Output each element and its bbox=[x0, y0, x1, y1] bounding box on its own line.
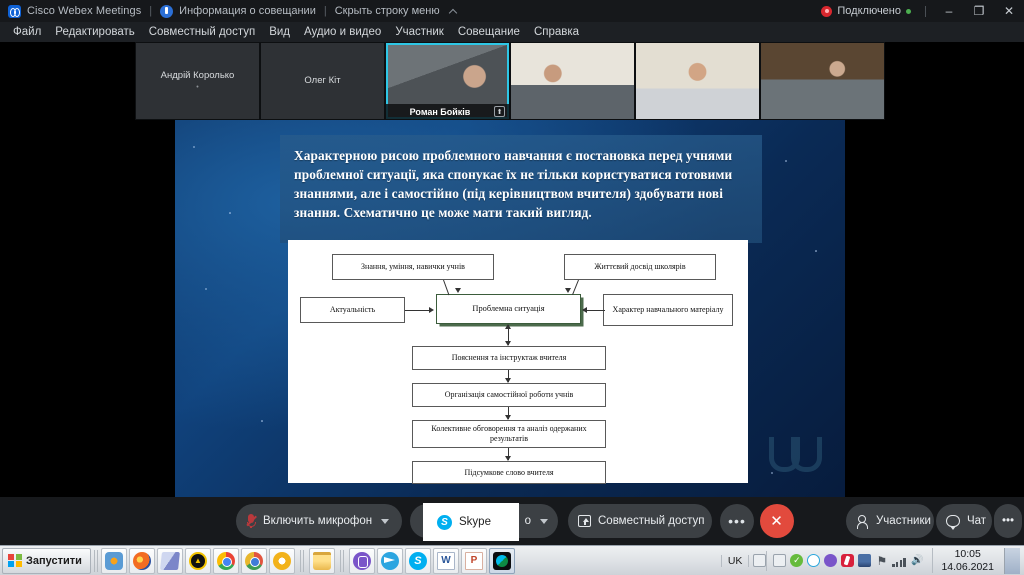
tray-icon-viber[interactable] bbox=[824, 554, 837, 567]
video-tile-3-label-bar: Роман Бойків ⬆ bbox=[386, 104, 509, 119]
tray-icon-flag[interactable] bbox=[875, 554, 888, 567]
tray-icon-hand[interactable] bbox=[773, 554, 786, 567]
diagram-box-step-3: Колективне обговорення та аналіз одержан… bbox=[412, 420, 606, 448]
webex-watermark-icon bbox=[765, 431, 823, 473]
titlebar-separator bbox=[925, 6, 926, 17]
diagram-box-knowledge: Знання, уміння, навички учнів bbox=[332, 254, 494, 280]
arrowhead-step3 bbox=[505, 415, 511, 420]
arrowhead-relevance bbox=[429, 307, 434, 313]
windows-taskbar: Запустити UK bbox=[0, 545, 1024, 575]
title-bar: Cisco Webex Meetings | Информация о сове… bbox=[0, 0, 1024, 22]
people-icon bbox=[856, 515, 869, 528]
mute-microphone-button[interactable]: Включить микрофон bbox=[236, 504, 402, 538]
video-tile-2-name: Олег Кіт bbox=[304, 75, 340, 88]
star-decoration bbox=[229, 212, 231, 214]
chevron-up-icon[interactable] bbox=[448, 9, 456, 17]
video-tile-1-name: Андрій Королько • bbox=[161, 70, 235, 92]
share-screen-icon bbox=[578, 515, 591, 527]
meeting-info-link[interactable]: Информация о совещании bbox=[179, 5, 316, 17]
video-tile-6[interactable] bbox=[761, 43, 884, 119]
menu-bar: Файл Редактировать Совместный доступ Вид… bbox=[0, 22, 1024, 42]
shared-content-stage[interactable]: Характерною рисою проблемного навчання є… bbox=[175, 120, 845, 497]
menu-item-audio-video[interactable]: Аудио и видео bbox=[297, 24, 388, 40]
diagram-box-step-1: Пояснення та інструктаж вчителя bbox=[412, 346, 606, 370]
title-bar-right: Подключено – ❐ ✕ bbox=[821, 0, 1024, 22]
start-button[interactable]: Запустити bbox=[2, 548, 91, 574]
taskbar-app-avast-antivirus[interactable] bbox=[185, 548, 211, 574]
app-title: Cisco Webex Meetings bbox=[27, 5, 141, 17]
info-icon bbox=[160, 5, 173, 18]
menu-item-meeting[interactable]: Совещание bbox=[451, 24, 527, 40]
connector-life-experience bbox=[572, 280, 579, 295]
clock-time: 10:05 bbox=[941, 548, 994, 561]
start-button-label: Запустити bbox=[26, 555, 82, 567]
tray-icon-group bbox=[766, 551, 930, 571]
share-content-button[interactable]: Совместный доступ bbox=[568, 504, 712, 538]
diagram-box-step-4: Підсумкове слово вчителя bbox=[412, 461, 606, 484]
windows-logo-icon bbox=[8, 554, 22, 567]
tray-icon-printer[interactable] bbox=[753, 554, 766, 567]
star-decoration bbox=[193, 146, 195, 148]
video-tile-4[interactable] bbox=[511, 43, 634, 119]
taskbar-app-telegram[interactable] bbox=[377, 548, 403, 574]
diagram-box-life-experience: Життєвий досвід школярів bbox=[564, 254, 716, 280]
diagram-box-material-character: Характер навчального матеріалу bbox=[603, 294, 733, 326]
connector-knowledge bbox=[443, 280, 449, 295]
menu-item-edit[interactable]: Редактировать bbox=[48, 24, 141, 40]
diagram-box-step-2: Організація самостійної роботи учнів bbox=[412, 383, 606, 407]
menu-item-share[interactable]: Совместный доступ bbox=[142, 24, 262, 40]
share-content-label: Совместный доступ bbox=[598, 515, 704, 527]
menu-item-view[interactable]: Вид bbox=[262, 24, 297, 40]
arrowhead-up-center bbox=[505, 324, 511, 329]
hide-menu-bar-link[interactable]: Скрыть строку меню bbox=[335, 5, 440, 17]
chevron-down-icon-video[interactable] bbox=[540, 519, 548, 524]
taskbar-app-skype[interactable] bbox=[405, 548, 431, 574]
connection-quality-dot bbox=[906, 9, 911, 14]
star-decoration bbox=[205, 288, 207, 290]
skype-tooltip-label: Skype bbox=[459, 516, 491, 528]
volume-icon[interactable] bbox=[910, 554, 924, 567]
arrowhead-life-experience bbox=[565, 288, 571, 293]
video-tile-2[interactable]: Олег Кіт bbox=[261, 43, 384, 119]
mute-microphone-label: Включить микрофон bbox=[263, 515, 372, 527]
language-indicator[interactable]: UK bbox=[721, 555, 750, 567]
tray-icon-sync[interactable] bbox=[807, 554, 820, 567]
diagram-box-relevance: Актуальність bbox=[300, 297, 405, 323]
skype-icon bbox=[437, 515, 452, 530]
taskbar-app-viber[interactable] bbox=[349, 548, 375, 574]
video-tile-3-name: Роман Бойків bbox=[390, 107, 490, 117]
close-button[interactable]: ✕ bbox=[994, 0, 1024, 22]
menu-item-participant[interactable]: Участник bbox=[388, 24, 451, 40]
menu-item-file[interactable]: Файл bbox=[6, 24, 48, 40]
participants-panel-button[interactable]: Участники bbox=[846, 504, 934, 538]
arrowhead-material-character bbox=[582, 307, 587, 313]
quick-launch-icons bbox=[101, 548, 515, 574]
taskbar-app-file-explorer[interactable] bbox=[309, 548, 335, 574]
taskbar-app-media-player-classic[interactable] bbox=[157, 548, 183, 574]
microphone-muted-icon bbox=[246, 514, 256, 529]
taskbar-grip-handle-2[interactable] bbox=[300, 550, 304, 572]
taskbar-app-windows-media-player[interactable] bbox=[101, 548, 127, 574]
video-tile-3-active-speaker[interactable]: Роман Бойків ⬆ bbox=[386, 43, 509, 119]
taskbar-app-microsoft-powerpoint[interactable] bbox=[461, 548, 487, 574]
tray-icon-opera[interactable] bbox=[841, 554, 854, 567]
taskbar-grip-handle-3[interactable] bbox=[340, 550, 344, 572]
chat-bubble-icon bbox=[946, 515, 960, 527]
title-divider-2: | bbox=[322, 5, 329, 17]
menu-item-help[interactable]: Справка bbox=[527, 24, 586, 40]
more-options-button[interactable]: ••• bbox=[720, 504, 754, 538]
title-bar-left: Cisco Webex Meetings | Информация о сове… bbox=[0, 5, 456, 18]
chat-panel-button[interactable]: Чат bbox=[936, 504, 992, 538]
leave-meeting-button[interactable]: ✕ bbox=[760, 504, 794, 538]
connector-material-character bbox=[587, 310, 605, 311]
taskbar-grip-handle[interactable] bbox=[94, 550, 98, 572]
start-video-label: о bbox=[525, 515, 531, 527]
taskbar-app-webex-meetings[interactable] bbox=[489, 548, 515, 574]
taskbar-clock[interactable]: 10:05 14.06.2021 bbox=[932, 548, 1002, 574]
taskbar-app-firefox[interactable] bbox=[129, 548, 155, 574]
tray-icon-display[interactable] bbox=[858, 554, 871, 567]
network-signal-icon[interactable] bbox=[892, 555, 906, 567]
skype-tooltip-popup[interactable]: Skype bbox=[423, 503, 519, 541]
recording-icon bbox=[821, 6, 832, 17]
webex-app-icon bbox=[8, 5, 21, 18]
taskbar-app-chrome-secondary[interactable] bbox=[241, 548, 267, 574]
system-tray: UK 10:05 14.06.2021 bbox=[721, 546, 1024, 575]
title-divider-1: | bbox=[147, 5, 154, 17]
minimize-button[interactable]: – bbox=[934, 0, 964, 22]
connection-status: Подключено bbox=[821, 5, 917, 17]
arrowhead-knowledge bbox=[455, 288, 461, 293]
taskbar-app-microsoft-word[interactable] bbox=[433, 548, 459, 574]
chat-label: Чат bbox=[967, 515, 986, 527]
arrowhead-step4 bbox=[505, 456, 511, 461]
slide-body-text: Характерною рисою проблемного навчання є… bbox=[280, 135, 762, 243]
chevron-down-icon-audio[interactable] bbox=[381, 519, 389, 524]
taskbar-app-opera-browser[interactable] bbox=[269, 548, 295, 574]
pin-icon[interactable]: ⬆ bbox=[494, 106, 505, 117]
participants-label: Участники bbox=[876, 515, 931, 527]
maximize-button[interactable]: ❐ bbox=[964, 0, 994, 22]
panel-more-button[interactable]: ••• bbox=[994, 504, 1022, 538]
tray-icon-antivirus-ok[interactable] bbox=[790, 554, 803, 567]
star-decoration bbox=[815, 250, 817, 252]
clock-date: 14.06.2021 bbox=[941, 561, 994, 574]
star-decoration bbox=[785, 160, 787, 162]
show-desktop-button[interactable] bbox=[1004, 548, 1020, 574]
arrowhead-down-step1 bbox=[505, 341, 511, 346]
connection-label: Подключено bbox=[837, 5, 901, 17]
webex-meeting-window: Cisco Webex Meetings | Информация о сове… bbox=[0, 0, 1024, 575]
taskbar-app-google-chrome[interactable] bbox=[213, 548, 239, 574]
slide-diagram: Знання, уміння, навички учнів Життєвий д… bbox=[288, 240, 748, 483]
star-decoration bbox=[261, 420, 263, 422]
video-tile-1-sub: • bbox=[161, 83, 235, 92]
connector-relevance bbox=[405, 310, 430, 311]
diagram-box-problem-situation: Проблемна ситуація bbox=[436, 294, 581, 324]
video-tile-5[interactable] bbox=[636, 43, 759, 119]
participant-filmstrip: Андрій Королько • Олег Кіт Роман Бойків … bbox=[135, 42, 885, 120]
video-tile-1[interactable]: Андрій Королько • bbox=[136, 43, 259, 119]
arrowhead-step2 bbox=[505, 378, 511, 383]
